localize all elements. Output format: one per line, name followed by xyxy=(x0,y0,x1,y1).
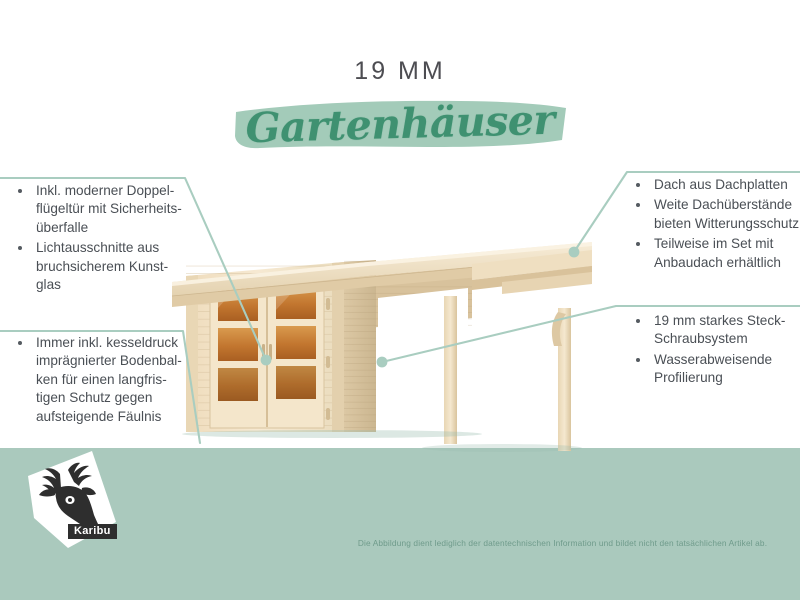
list-item-label: Weite Dachüberstände bieten Witterungssc… xyxy=(654,197,799,230)
bullet-dot-icon xyxy=(636,319,640,323)
callout-bottom-right-list: 19 mm starkes Steck- Schraubsystem Wasse… xyxy=(632,312,800,388)
list-item: Teilweise im Set mit Anbaudach erhältlic… xyxy=(632,235,800,272)
list-item-label: Inkl. moderner Doppel- flügeltür mit Sic… xyxy=(36,183,182,235)
list-item: 19 mm starkes Steck- Schraubsystem xyxy=(632,312,800,349)
list-item: Lichtausschnitte aus bruchsicherem Kunst… xyxy=(14,239,194,294)
list-item: Inkl. moderner Doppel- flügeltür mit Sic… xyxy=(14,182,194,237)
callout-top-right: Dach aus Dachplatten Weite Dachüberständ… xyxy=(632,176,800,274)
callout-top-left-list: Inkl. moderner Doppel- flügeltür mit Sic… xyxy=(14,182,194,294)
callout-bottom-left: Immer inkl. kesseldruck imprägnierter Bo… xyxy=(14,334,194,428)
list-item-label: 19 mm starkes Steck- Schraubsystem xyxy=(654,313,785,346)
list-item-label: Teilweise im Set mit Anbaudach erhältlic… xyxy=(654,236,781,269)
bullet-dot-icon xyxy=(636,203,640,207)
bullet-dot-icon xyxy=(18,246,22,250)
list-item: Weite Dachüberstände bieten Witterungssc… xyxy=(632,196,800,233)
infographic-stage: 19 MM Gartenhäuser xyxy=(0,0,800,600)
connector-dot-top-right xyxy=(569,247,580,258)
bullet-dot-icon xyxy=(18,189,22,193)
list-item: Immer inkl. kesseldruck imprägnierter Bo… xyxy=(14,334,194,426)
deer-head-icon xyxy=(24,448,136,558)
bullet-dot-icon xyxy=(636,358,640,362)
list-item-label: Dach aus Dachplatten xyxy=(654,177,788,192)
brand-logo: Karibu xyxy=(24,448,136,558)
bullet-dot-icon xyxy=(636,183,640,187)
connector-dot-bottom-right xyxy=(377,357,388,368)
list-item-label: Lichtausschnitte aus bruchsicherem Kunst… xyxy=(36,240,168,292)
bullet-dot-icon xyxy=(636,242,640,246)
callout-bottom-left-list: Immer inkl. kesseldruck imprägnierter Bo… xyxy=(14,334,194,426)
callout-top-right-list: Dach aus Dachplatten Weite Dachüberständ… xyxy=(632,176,800,272)
bullet-dot-icon xyxy=(18,341,22,345)
list-item: Wasserabweisende Profilierung xyxy=(632,351,800,388)
footer-disclaimer: Die Abbildung dient lediglich der datent… xyxy=(330,538,795,548)
list-item-label: Wasserabweisende Profilierung xyxy=(654,352,772,385)
list-item: Dach aus Dachplatten xyxy=(632,176,800,194)
brand-logo-label: Karibu xyxy=(68,524,117,539)
callout-top-left: Inkl. moderner Doppel- flügeltür mit Sic… xyxy=(14,182,194,296)
list-item-label: Immer inkl. kesseldruck imprägnierter Bo… xyxy=(36,335,182,424)
connector-dot-top-left xyxy=(261,355,272,366)
callout-bottom-right: 19 mm starkes Steck- Schraubsystem Wasse… xyxy=(632,312,800,390)
